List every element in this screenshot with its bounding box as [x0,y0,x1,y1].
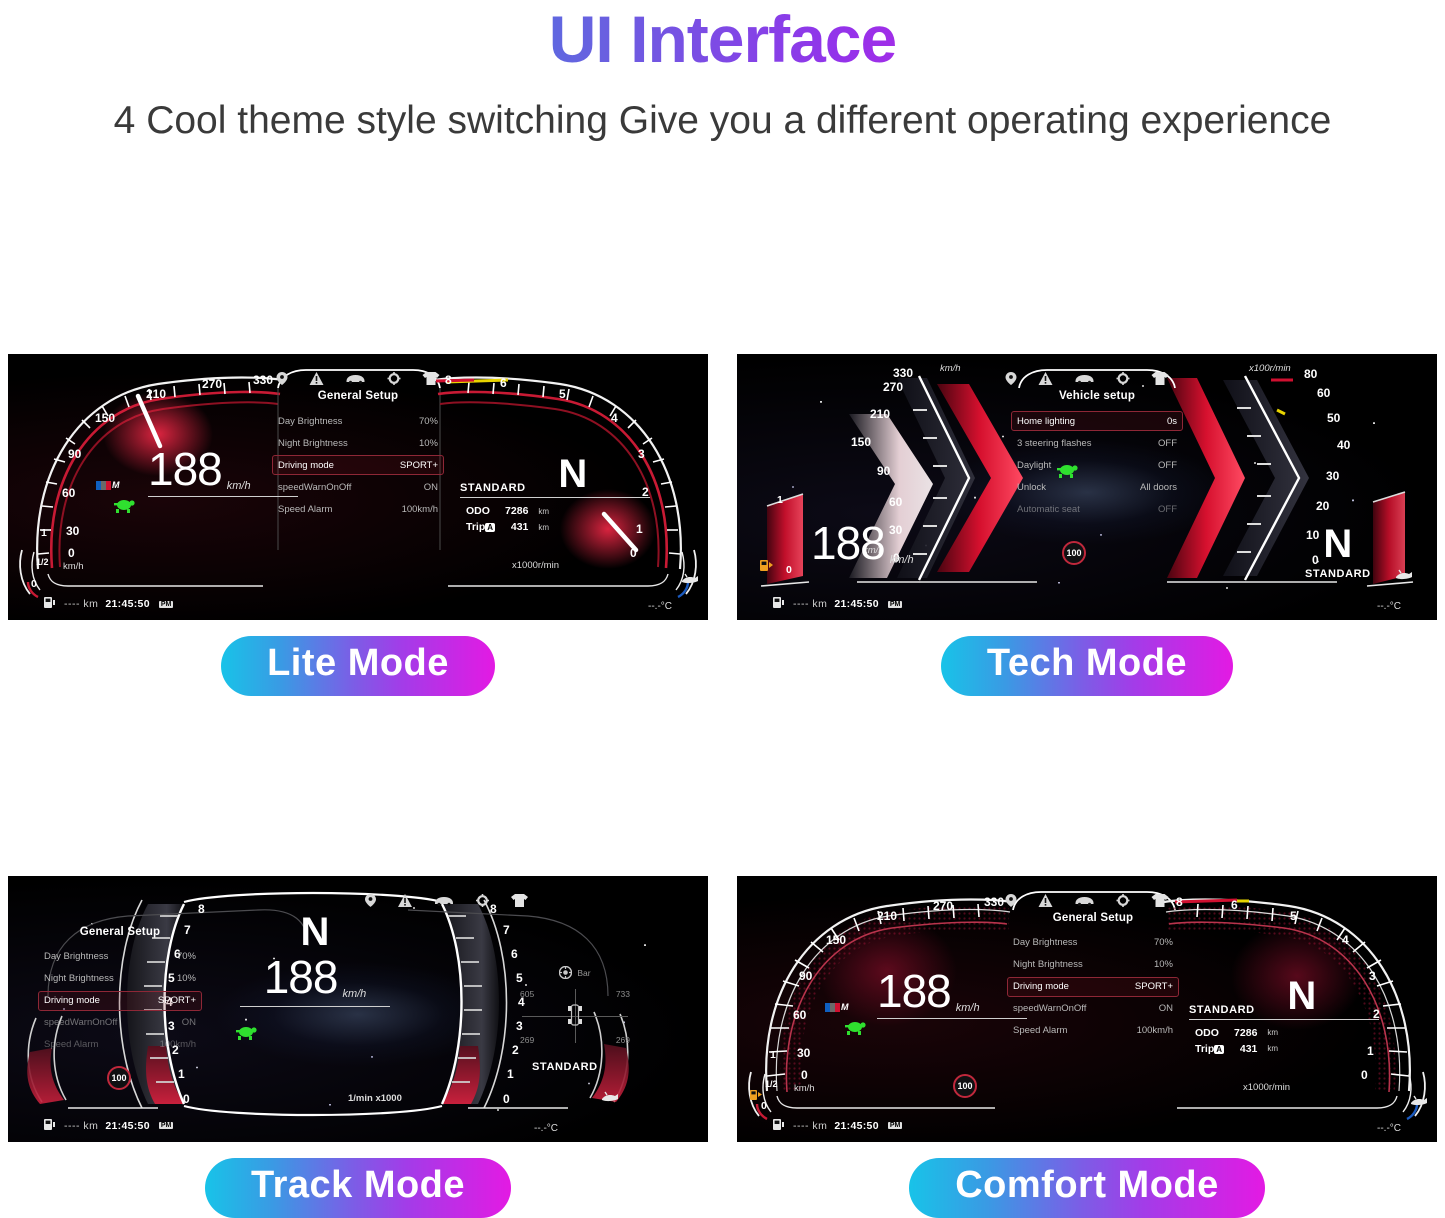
car-icon [434,895,454,906]
clock-value: 21:45:50 [834,1120,878,1132]
tach-tick-40: 40 [1337,438,1350,452]
speed-tick-90: 90 [799,969,812,983]
speed-tick-270: 270 [933,899,953,913]
theme-card-track[interactable]: General Setup Day Brightness70% Night Br… [8,876,708,1218]
menu-item-value: All doors [1140,482,1177,493]
status-bar-comfort: ---- km 21:45:50 PM [771,1118,902,1134]
tach-tick-8: 8 [1176,895,1183,909]
speed-tick-0: 0 [68,546,75,560]
fuel-pump-icon [771,1118,786,1134]
gear-odo-block-comfort: STANDARD N ODO 7286 km TripA 431 [1189,976,1379,1058]
range-value: ---- km [64,598,98,610]
speed-tick-210: 210 [146,387,166,401]
tire-rear-right-value: 269 [616,1035,630,1045]
tach-tick-30: 30 [1326,469,1339,483]
tach-tick-1-right: 1 [507,1067,514,1081]
menu-item-home-lighting[interactable]: Home lighting0s [1011,411,1183,431]
tach-tick-50: 50 [1327,411,1340,425]
menu-item-key: speedWarnOnOff [44,1017,117,1028]
speed-tick-270: 270 [202,377,222,391]
status-icon-strip [1006,372,1169,385]
m-logo-icon: M [825,1003,849,1012]
fuel-pump-icon [42,596,57,612]
menu-item-speed-warn[interactable]: speedWarnOnOffON [38,1013,202,1033]
menu-item-value: 70% [419,416,438,427]
outside-temperature: --.-°C [534,1123,558,1134]
cluster-screen-lite[interactable]: General Setup Day Brightness70% Night Br… [8,354,708,620]
speed-readout-lite: 188 km/h [148,446,298,497]
menu-item-value: 10% [1154,959,1173,970]
speed-readout-comfort: 188 km/h [877,968,1027,1019]
outside-temperature: --.-°C [1377,601,1401,612]
panel-row-bottom: General Setup Day Brightness70% Night Br… [0,876,1445,1218]
speed-tick-60: 60 [62,486,75,500]
tach-tick-0: 0 [1361,1068,1368,1082]
clock-meridiem: PM [888,601,903,608]
speed-limit-value: 100 [111,1073,126,1083]
menu-item-key: Unlock [1017,482,1046,493]
odo-value: 7286 [1230,1026,1261,1040]
menu-general-setup-comfort[interactable]: General Setup Day Brightness70% Night Br… [1007,912,1179,1043]
tire-icon [559,966,572,981]
speed-tick-90: 90 [68,447,81,461]
drive-mode-label: STANDARD [532,1061,598,1073]
tach-tick-8: 8 [198,902,205,916]
menu-item-value: 70% [1154,937,1173,948]
tire-unit-label: Bar [577,968,590,978]
speed-unit: km/h [342,988,366,1000]
status-bar-lite: ---- km 21:45:50 PM [42,596,173,612]
speed-tick-210: 210 [877,909,897,923]
speed-limit-sign: 100 [107,1066,131,1090]
menu-item-driving-mode[interactable]: Driving modeSPORT+ [38,991,202,1011]
menu-item-night-brightness[interactable]: Night Brightness10% [1007,955,1179,975]
location-pin-icon [1006,894,1017,907]
tach-tick-5: 5 [1290,909,1297,923]
fuel-tick-1: 1 [41,527,47,539]
warning-triangle-icon [1039,894,1053,907]
range-value: ---- km [793,598,827,610]
cluster-screen-tech[interactable]: Vehicle setup Home lighting0s 3 steering… [737,354,1437,620]
odo-unit: km [1263,1026,1282,1040]
gear-indicator: N [1305,524,1371,564]
odo-label: ODO [1191,1026,1228,1040]
menu-item-speed-alarm[interactable]: Speed Alarm100km/h [1007,1021,1179,1041]
tire-front-right-value: 733 [616,989,630,999]
theme-card-lite[interactable]: General Setup Day Brightness70% Night Br… [8,354,708,696]
menu-item-value: SPORT+ [158,995,196,1006]
trip-unit: km [1263,1042,1282,1056]
odo-unit: km [534,504,553,518]
tach-scale-unit: x100r/min [1249,363,1291,374]
speed-tick-150: 150 [851,435,871,449]
outside-temperature: --.-°C [1377,1123,1401,1134]
status-icon-strip [277,372,440,385]
menu-title: General Setup [1007,912,1179,924]
fuel-tick-0: 0 [786,564,792,576]
tire-rear-left-value: 269 [520,1035,534,1045]
tach-tick-5: 5 [559,387,566,401]
cluster-screen-comfort[interactable]: General Setup Day Brightness70% Night Br… [737,876,1437,1142]
theme-panels-grid: General Setup Day Brightness70% Night Br… [0,354,1445,1218]
menu-item-night-brightness[interactable]: Night Brightness10% [38,969,202,989]
tach-tick-0: 0 [183,1092,190,1106]
speed-tick-330: 330 [984,895,1004,909]
gear-block-tech: N STANDARD [1305,524,1371,580]
car-top-view-icon [568,1003,583,1029]
speed-tick-60: 60 [793,1008,806,1022]
tach-tick-7-right: 7 [503,923,510,937]
odo-trip-table: ODO 7286 km TripA 431 km [1189,1024,1284,1058]
fuel-pump-icon [42,1118,57,1134]
tach-tick-60: 60 [1317,386,1330,400]
range-value: ---- km [64,1120,98,1132]
menu-item-value: 70% [177,951,196,962]
tach-tick-0: 0 [630,546,637,560]
table-row: TripA 431 km [1191,1042,1282,1056]
drive-mode-label: STANDARD [460,482,526,494]
car-icon [1075,373,1095,384]
menu-item-speed-alarm[interactable]: Speed Alarm100km/h [272,499,444,519]
menu-item-key: Night Brightness [44,973,114,984]
gear-indicator: N [558,454,587,494]
menu-general-setup-track[interactable]: General Setup Day Brightness70% Night Br… [38,926,202,1057]
turtle-indicator-icon [112,497,136,518]
speed-unit: km/h [227,480,251,492]
speed-tick-270: 270 [883,380,903,394]
speed-tick-0: 0 [801,1068,808,1082]
menu-item-driving-mode[interactable]: Driving modeSPORT+ [1007,977,1179,997]
menu-item-key: 3 steering flashes [1017,438,1091,449]
speed-readout-tech: 188 km/h [811,520,914,566]
gear-indicator: N [1287,976,1316,1016]
menu-item-value: ON [424,482,438,493]
seat-icon [423,372,440,385]
menu-item-key: Day Brightness [278,416,342,427]
menu-item-key: Automatic seat [1017,504,1080,515]
menu-item-key: Speed Alarm [44,1039,98,1050]
tach-tick-6: 6 [500,376,507,390]
tach-scale-unit: x1000r/min [1243,1082,1290,1093]
odo-trip-table: ODO 7286 km TripA 431 km [460,502,555,536]
speed-tick-210: 210 [870,407,890,421]
theme-caption-comfort: Comfort Mode [909,1158,1265,1218]
panel-row-top: General Setup Day Brightness70% Night Br… [0,354,1445,696]
gear-odo-block-lite: STANDARD N ODO 7286 km TripA 431 [460,454,650,536]
speed-limit-value: 100 [1066,548,1081,558]
page-subtitle: 4 Cool theme style switching Give you a … [23,96,1423,146]
menu-item-automatic-seat[interactable]: Automatic seatOFF [1011,499,1183,519]
status-bar-tech: ---- km 21:45:50 PM [771,596,902,612]
menu-title: General Setup [38,926,202,938]
turtle-indicator-icon [843,1019,867,1040]
warning-triangle-icon [1039,372,1053,385]
warning-triangle-icon [310,372,324,385]
tach-tick-80: 80 [1304,367,1317,381]
tach-tick-8: 8 [445,373,452,387]
menu-item-day-brightness[interactable]: Day Brightness70% [1007,933,1179,953]
gear-indicator: N [240,912,390,952]
menu-item-key: Driving mode [44,995,100,1006]
seat-icon [511,894,528,907]
clock-meridiem: PM [888,1122,903,1129]
table-row: ODO 7286 km [462,504,553,518]
oil-lamp-icon [1394,568,1412,586]
location-pin-icon [365,894,376,907]
speed-tick-150: 150 [95,411,115,425]
tach-tick-1: 1 [178,1067,185,1081]
menu-item-value: 10% [419,438,438,449]
table-row: TripA 431 km [462,520,553,534]
range-value: ---- km [793,1120,827,1132]
trip-value: 431 [501,520,532,534]
menu-vehicle-setup-tech[interactable]: Vehicle setup Home lighting0s 3 steering… [1011,390,1183,521]
theme-caption-lite: Lite Mode [221,636,495,696]
menu-item-steering-flashes[interactable]: 3 steering flashesOFF [1011,433,1183,453]
speed-scale-unit: km/h [940,363,961,374]
table-row: ODO 7286 km [1191,1026,1282,1040]
drive-mode-label: STANDARD [1305,568,1371,580]
gear-icon [388,372,401,385]
menu-title: General Setup [272,390,444,402]
odo-label: ODO [462,504,499,518]
menu-item-day-brightness[interactable]: Day Brightness70% [272,411,444,431]
menu-item-day-brightness[interactable]: Day Brightness70% [38,947,202,967]
speed-tick-30: 30 [797,1046,810,1060]
menu-item-value: ON [182,1017,196,1028]
menu-item-key: Speed Alarm [278,504,332,515]
speed-value: 188 [264,954,338,1000]
speed-tick-330: 330 [253,373,273,387]
speed-tick-330: 330 [893,366,913,380]
car-icon [1075,895,1095,906]
theme-card-comfort[interactable]: General Setup Day Brightness70% Night Br… [737,876,1437,1218]
menu-item-value: ON [1159,1003,1173,1014]
speed-unit: km/h [890,554,914,566]
trip-badge: A [1214,1045,1224,1054]
speed-scale-unit: km/h [794,1083,815,1094]
fuel-level-label: 1/2 [36,557,49,567]
seat-icon [1152,372,1169,385]
tire-grid: 605 733 269 269 [516,985,634,1047]
tach-scale-unit: x1000r/min [512,560,559,571]
trip-badge: A [485,523,495,532]
clock-meridiem: PM [159,1122,174,1129]
speed-readout-track: N 188 km/h [240,912,390,1007]
speed-limit-sign: 100 [953,1074,977,1098]
clock-value: 21:45:50 [105,598,149,610]
car-icon [346,373,366,384]
menu-item-value: SPORT+ [1135,981,1173,992]
fuel-warning-icon [749,1088,763,1106]
drive-mode-label: STANDARD [1189,1004,1255,1016]
status-bar-track: ---- km 21:45:50 PM [42,1118,173,1134]
fuel-tick-1: 1 [777,494,783,506]
speed-tick-60: 60 [889,495,902,509]
speed-value: 188 [811,520,885,566]
menu-item-speed-warn[interactable]: speedWarnOnOffON [1007,999,1179,1019]
gear-icon [1117,372,1130,385]
menu-item-value: OFF [1158,438,1177,449]
menu-item-value: 100km/h [402,504,438,515]
fuel-level-label: 1/2 [765,1079,778,1089]
tach-tick-4: 4 [1342,933,1349,947]
trip-label: TripA [462,520,499,534]
menu-item-key: Day Brightness [1013,937,1077,948]
oil-lamp-icon [600,1090,618,1108]
theme-caption-tech: Tech Mode [941,636,1233,696]
oil-lamp-icon [680,572,698,590]
menu-item-value: 10% [177,973,196,984]
speed-tick-150: 150 [826,933,846,947]
menu-item-key: Speed Alarm [1013,1025,1067,1036]
menu-item-value: OFF [1158,504,1177,515]
fuel-tick-0: 0 [31,578,37,590]
tach-tick-6: 6 [1231,898,1238,912]
location-pin-icon [277,372,288,385]
status-icon-strip [1006,894,1169,907]
tire-pressure-widget: Bar 605 733 269 269 [516,966,634,1047]
menu-item-key: Home lighting [1017,416,1075,427]
speed-tick-30: 30 [66,524,79,538]
trip-value: 431 [1230,1042,1261,1056]
odo-value: 7286 [501,504,532,518]
cluster-screen-track[interactable]: General Setup Day Brightness70% Night Br… [8,876,708,1142]
clock-value: 21:45:50 [834,598,878,610]
menu-item-speed-alarm[interactable]: Speed Alarm100km/h [38,1035,202,1055]
theme-card-tech[interactable]: Vehicle setup Home lighting0s 3 steering… [737,354,1437,696]
speed-value: 188 [148,446,222,492]
menu-item-key: Day Brightness [44,951,108,962]
oil-lamp-icon [1409,1094,1427,1112]
speed-limit-value: 100 [957,1081,972,1091]
tach-tick-6-right: 6 [511,947,518,961]
speed-limit-sign: 100 [1062,541,1086,565]
theme-caption-track: Track Mode [205,1158,511,1218]
fuel-tick-1: 1 [770,1049,776,1061]
status-icon-strip [365,894,528,907]
tach-tick-0-right: 0 [503,1092,510,1106]
seat-icon [1152,894,1169,907]
outside-temperature: --.-°C [648,601,672,612]
menu-item-value: OFF [1158,460,1177,471]
trip-label: TripA [1191,1042,1228,1056]
clock-value: 21:45:50 [105,1120,149,1132]
gear-icon [1117,894,1130,907]
tire-front-left-value: 605 [520,989,534,999]
warning-triangle-icon [398,894,412,907]
page-title: UI Interface [0,2,1445,78]
fuel-pump-icon [771,596,786,612]
speed-tick-90: 90 [877,464,890,478]
menu-item-unlock[interactable]: UnlockAll doors [1011,477,1183,497]
speed-value: 188 [877,968,951,1014]
gear-icon [476,894,489,907]
tach-scale-unit: 1/min x1000 [348,1093,402,1104]
menu-item-key: Daylight [1017,460,1051,471]
tach-tick-4: 4 [611,411,618,425]
m-logo-icon: M [96,481,120,490]
fuel-warning-icon [759,559,775,577]
menu-item-value: 100km/h [1137,1025,1173,1036]
menu-item-value: 0s [1167,416,1177,427]
turtle-indicator-icon [234,1024,258,1045]
trip-unit: km [534,520,553,534]
menu-item-value: SPORT+ [400,460,438,471]
speed-scale-unit: km/h [63,561,84,572]
speed-unit: km/h [956,1002,980,1014]
clock-meridiem: PM [159,601,174,608]
menu-item-value: 100km/h [160,1039,196,1050]
menu-title: Vehicle setup [1011,390,1183,402]
tach-tick-20: 20 [1316,499,1329,513]
turtle-indicator-icon [1055,462,1079,483]
menu-item-daylight[interactable]: DaylightOFF [1011,455,1183,475]
location-pin-icon [1006,372,1017,385]
